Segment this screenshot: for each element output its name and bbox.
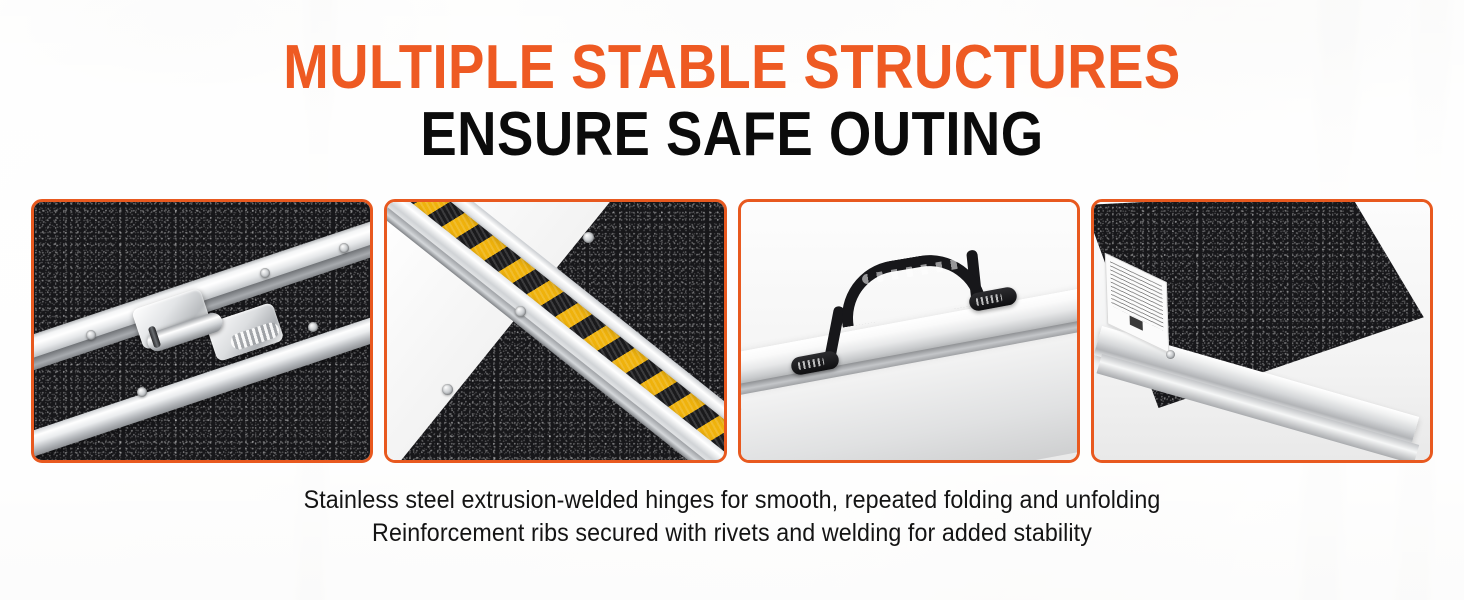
caption-block: Stainless steel extrusion-welded hinges …	[0, 484, 1464, 551]
panel-corner	[1091, 199, 1433, 463]
panel-handle	[738, 199, 1080, 463]
panel-hinge	[31, 199, 373, 463]
headline-line-2: ENSURE SAFE OUTING	[88, 103, 1376, 166]
headline-block: MULTIPLE STABLE STRUCTURES ENSURE SAFE O…	[0, 36, 1464, 166]
hinge-photo	[34, 202, 370, 460]
bolt-icon	[1166, 350, 1175, 359]
caption-line-1: Stainless steel extrusion-welded hinges …	[51, 484, 1413, 517]
ramp-corner-photo	[1094, 202, 1430, 460]
screw-icon	[339, 243, 349, 253]
screw-icon	[260, 268, 270, 278]
screw-icon	[86, 330, 96, 340]
screw-icon	[308, 322, 318, 332]
panel-chevron	[384, 199, 726, 463]
headline-line-1: MULTIPLE STABLE STRUCTURES	[88, 36, 1376, 99]
screw-icon	[137, 387, 147, 397]
feature-image-row	[31, 199, 1433, 463]
caption-line-2: Reinforcement ribs secured with rivets a…	[51, 517, 1413, 550]
carry-handle-photo	[741, 202, 1077, 460]
product-feature-banner: MULTIPLE STABLE STRUCTURES ENSURE SAFE O…	[0, 0, 1464, 600]
chevron-edge-photo	[387, 202, 723, 460]
